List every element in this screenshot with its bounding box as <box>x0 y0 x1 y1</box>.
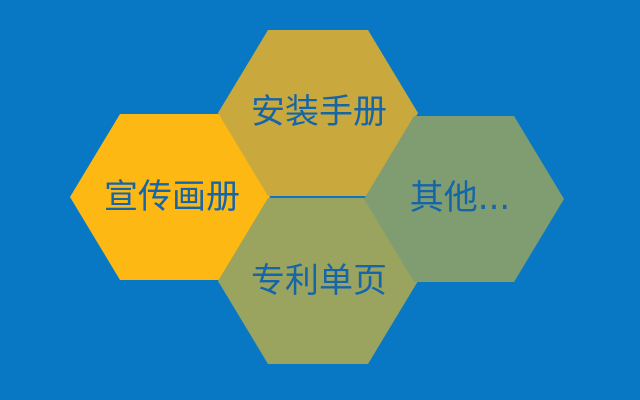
node-installation-manual-label: 安装手册 <box>251 92 387 132</box>
node-patent-sheet-label: 专利单页 <box>251 261 387 301</box>
node-others-label: 其他... <box>410 178 510 218</box>
slide-canvas: 宣传画册安装手册专利单页其他... <box>0 0 640 400</box>
hexagon-diagram: 宣传画册安装手册专利单页其他... <box>0 0 640 400</box>
node-brochure-label: 宣传画册 <box>104 177 240 217</box>
